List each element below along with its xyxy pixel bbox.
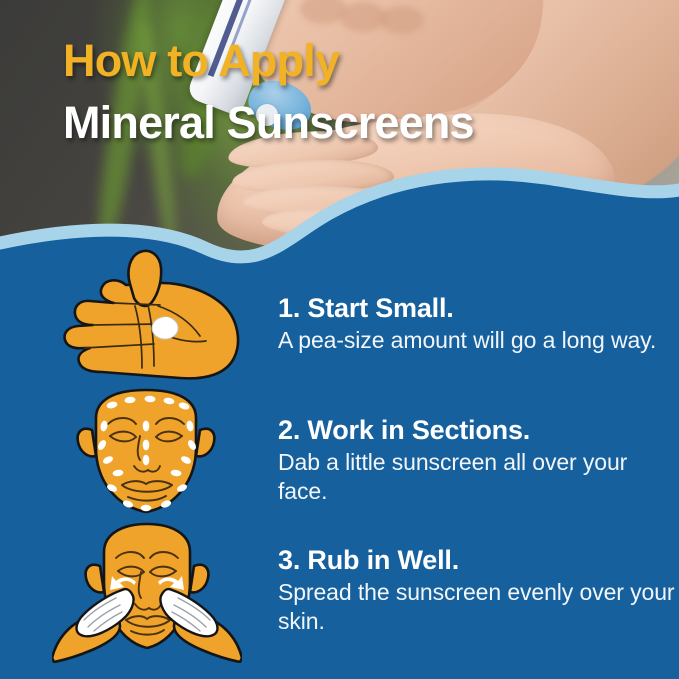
step-3-body: Spread the sunscreen evenly over your sk… (278, 578, 678, 635)
pea-size-sunscreen-dot (152, 317, 178, 339)
step-3-title: 3. Rub in Well. (278, 546, 678, 575)
step-2-body: Dab a little sunscreen all over your fac… (278, 448, 678, 505)
step-1-text-block: 1. Start Small. A pea-size amount will g… (278, 294, 663, 355)
step-1-title: 1. Start Small. (278, 294, 663, 323)
page-title-line-1: How to Apply (63, 38, 663, 83)
knuckle-shading (340, 2, 386, 32)
step-3-text-block: 3. Rub in Well. Spread the sunscreen eve… (278, 546, 678, 635)
knuckle-shading (380, 6, 424, 34)
how-to-apply-mineral-sunscreens-infographic: How to Apply Mineral Sunscreens (0, 0, 679, 679)
poster-heading-group: How to Apply Mineral Sunscreens (63, 38, 663, 145)
page-title-line-2: Mineral Sunscreens (63, 100, 663, 145)
step-2-text-block: 2. Work in Sections. Dab a little sunscr… (278, 416, 678, 505)
step-1-body: A pea-size amount will go a long way. (278, 326, 663, 355)
open-hand-with-pea-size-dot-icon (30, 248, 260, 388)
hands-rubbing-face-icon (52, 518, 242, 663)
face-with-sunscreen-dots-icon (66, 382, 226, 517)
step-2-title: 2. Work in Sections. (278, 416, 678, 445)
